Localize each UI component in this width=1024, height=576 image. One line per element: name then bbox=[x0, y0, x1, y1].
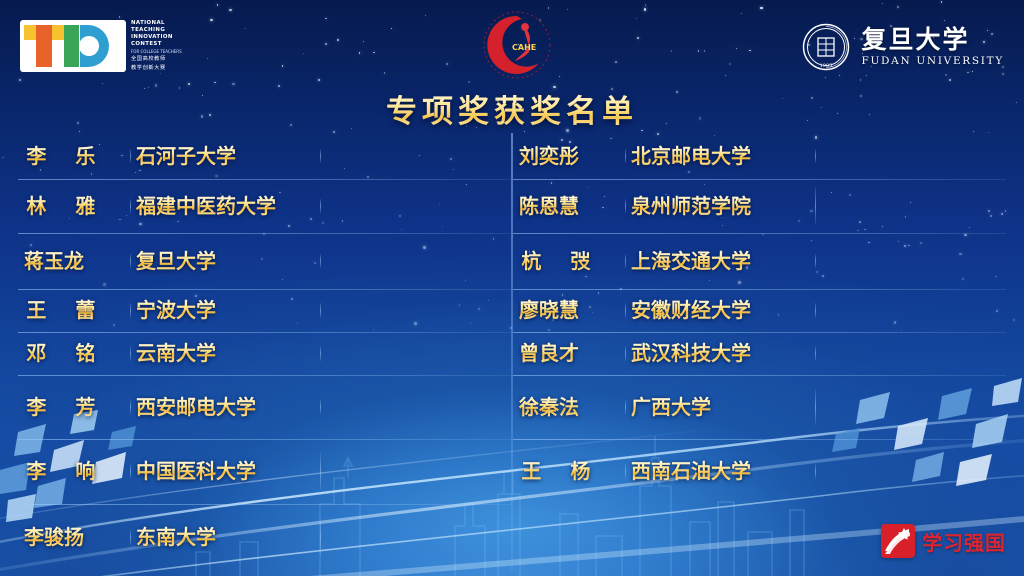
cell-award: 教学活动创新奖教学学术创新奖 bbox=[815, 183, 1001, 228]
winner-school: 云南大学 bbox=[136, 341, 216, 365]
winner-school: 石河子大学 bbox=[136, 144, 236, 168]
table-row: 王 蕾宁波大学教学设计创新奖 bbox=[18, 289, 511, 333]
award-label: 教学设计创新奖 bbox=[326, 250, 500, 272]
winner-awards: 教学设计创新奖 bbox=[821, 250, 995, 272]
fudan-name-cn: 复旦大学 bbox=[862, 27, 970, 53]
winner-name: 王 杨 bbox=[519, 459, 601, 483]
winner-name: 李 乐 bbox=[24, 144, 106, 168]
award-table-right-column: 刘奕彤北京邮电大学教学活动创新奖陈恩慧泉州师范学院教学活动创新奖教学学术创新奖杭… bbox=[513, 133, 1006, 571]
cell-name: 邓 铭 bbox=[18, 342, 130, 364]
winner-school: 北京邮电大学 bbox=[631, 144, 751, 168]
winner-awards: 教学活动创新奖教学学术创新奖 bbox=[821, 385, 995, 430]
cell-award: 教学设计创新奖 bbox=[815, 299, 1001, 321]
winner-awards: 教学设计创新奖 bbox=[821, 460, 995, 482]
award-label: 教学设计创新奖 bbox=[821, 299, 995, 321]
winner-name: 李骏扬 bbox=[24, 525, 84, 549]
winner-awards: 教学设计创新奖 bbox=[821, 299, 995, 321]
winner-name: 曾良才 bbox=[519, 341, 579, 365]
slide-stage: NATIONAL TEACHING INNOVATION CONTEST FOR… bbox=[0, 0, 1024, 576]
winner-school: 东南大学 bbox=[136, 525, 216, 549]
cell-school: 云南大学 bbox=[130, 342, 320, 364]
cell-name: 李 响 bbox=[18, 460, 130, 482]
winner-awards: 教学学术创新奖 bbox=[821, 342, 995, 364]
xuexi-qiangguo-mark-icon bbox=[881, 524, 915, 558]
tic-logo-mark bbox=[20, 20, 126, 72]
fudan-university-logo: 1905 复旦大学 FUDAN UNIVERSITY bbox=[802, 20, 1004, 74]
table-row: 刘奕彤北京邮电大学教学活动创新奖 bbox=[513, 133, 1006, 179]
award-label: 教学学术创新奖 bbox=[326, 396, 500, 418]
tic-line-1: NATIONAL bbox=[131, 20, 182, 27]
cell-school: 中国医科大学 bbox=[130, 460, 320, 482]
winner-awards: 教学活动创新奖教学学术创新奖 bbox=[326, 449, 500, 494]
award-label: 教学设计创新奖 bbox=[326, 299, 500, 321]
cell-award: 教学设计创新奖 bbox=[815, 250, 1001, 272]
cell-school: 武汉科技大学 bbox=[625, 342, 815, 364]
table-row: 曾良才武汉科技大学教学学术创新奖 bbox=[513, 332, 1006, 375]
fudan-name-en: FUDAN UNIVERSITY bbox=[862, 55, 1004, 67]
winner-name: 杭 弢 bbox=[519, 249, 601, 273]
award-label: 教学设计创新奖 bbox=[326, 537, 500, 559]
xuexi-qiangguo-label: 学习强国 bbox=[922, 527, 1006, 556]
award-table-left-column: 李 乐石河子大学教学活动创新奖林 雅福建中医药大学教学活动创新奖蒋玉龙复旦大学教… bbox=[18, 133, 511, 571]
tic-cn-line-1: 全国高校教师 bbox=[131, 56, 182, 63]
award-label: 教学学术创新奖 bbox=[326, 342, 500, 364]
award-label: 教学活动创新奖 bbox=[821, 145, 995, 167]
tic-tagline: FOR COLLEGE TEACHERS bbox=[131, 49, 182, 54]
table-row: 李骏扬东南大学教学学术创新奖教学设计创新奖 bbox=[18, 504, 511, 571]
winner-name: 王 蕾 bbox=[24, 298, 106, 322]
cell-name: 徐秦法 bbox=[513, 396, 625, 418]
winner-school: 复旦大学 bbox=[136, 249, 216, 273]
cell-award: 教学活动创新奖 bbox=[320, 145, 506, 167]
cell-name: 王 杨 bbox=[513, 460, 625, 482]
table-row: 李 芳西安邮电大学教学学术创新奖 bbox=[18, 375, 511, 439]
cell-name: 蒋玉龙 bbox=[18, 250, 130, 272]
award-list-table: 李 乐石河子大学教学活动创新奖林 雅福建中医药大学教学活动创新奖蒋玉龙复旦大学教… bbox=[18, 133, 1006, 571]
table-row: 廖晓慧安徽财经大学教学设计创新奖 bbox=[513, 289, 1006, 333]
winner-school: 福建中医药大学 bbox=[136, 194, 276, 218]
winner-name: 李 响 bbox=[24, 459, 106, 483]
table-row: 邓 铭云南大学教学学术创新奖 bbox=[18, 332, 511, 375]
cell-school: 泉州师范学院 bbox=[625, 195, 815, 217]
winner-name: 廖晓慧 bbox=[519, 298, 579, 322]
table-row: 蒋玉龙复旦大学教学设计创新奖 bbox=[18, 233, 511, 289]
award-label: 教学学术创新奖 bbox=[821, 342, 995, 364]
award-label: 教学活动创新奖 bbox=[326, 195, 500, 217]
cell-award: 教学活动创新奖 bbox=[320, 195, 506, 217]
table-row: 陈恩慧泉州师范学院教学活动创新奖教学学术创新奖 bbox=[513, 179, 1006, 234]
cell-award: 教学学术创新奖 bbox=[320, 396, 506, 418]
award-label: 教学活动创新奖 bbox=[326, 449, 500, 471]
cell-school: 安徽财经大学 bbox=[625, 299, 815, 321]
tic-logo: NATIONAL TEACHING INNOVATION CONTEST FOR… bbox=[20, 20, 190, 78]
award-label: 教学学术创新奖 bbox=[821, 407, 995, 429]
svg-text:1905: 1905 bbox=[819, 63, 832, 69]
cell-school: 西安邮电大学 bbox=[130, 396, 320, 418]
cell-name: 王 蕾 bbox=[18, 299, 130, 321]
winner-awards: 教学设计创新奖 bbox=[326, 250, 500, 272]
cell-name: 廖晓慧 bbox=[513, 299, 625, 321]
winner-awards: 教学活动创新奖 bbox=[821, 145, 995, 167]
cell-name: 李骏扬 bbox=[18, 526, 130, 548]
cell-name: 李 芳 bbox=[18, 396, 130, 418]
cell-school: 宁波大学 bbox=[130, 299, 320, 321]
award-label: 教学设计创新奖 bbox=[821, 250, 995, 272]
tic-line-2: TEACHING bbox=[131, 27, 182, 34]
svg-text:CAHE: CAHE bbox=[512, 43, 536, 52]
winner-school: 安徽财经大学 bbox=[631, 298, 751, 322]
cahe-emblem: CAHE bbox=[482, 10, 552, 80]
winner-school: 中国医科大学 bbox=[136, 459, 256, 483]
winner-school: 武汉科技大学 bbox=[631, 341, 751, 365]
award-label: 教学学术创新奖 bbox=[821, 206, 995, 228]
cell-award: 教学活动创新奖教学学术创新奖 bbox=[815, 385, 1001, 430]
cell-name: 刘奕彤 bbox=[513, 145, 625, 167]
winner-name: 徐秦法 bbox=[519, 395, 579, 419]
table-row: 王 杨西南石油大学教学设计创新奖 bbox=[513, 439, 1006, 503]
award-label: 教学活动创新奖 bbox=[821, 183, 995, 205]
winner-name: 邓 铭 bbox=[24, 341, 106, 365]
winner-name: 蒋玉龙 bbox=[24, 249, 84, 273]
winner-awards: 教学活动创新奖 bbox=[326, 145, 500, 167]
cell-name: 李 乐 bbox=[18, 145, 130, 167]
page-title: 专项奖获奖名单 bbox=[0, 86, 1024, 131]
cell-school: 上海交通大学 bbox=[625, 250, 815, 272]
award-label: 教学活动创新奖 bbox=[821, 385, 995, 407]
winner-name: 刘奕彤 bbox=[519, 144, 579, 168]
award-label: 教学学术创新奖 bbox=[326, 471, 500, 493]
cell-school: 福建中医药大学 bbox=[130, 195, 320, 217]
table-row: 徐秦法广西大学教学活动创新奖教学学术创新奖 bbox=[513, 375, 1006, 439]
winner-awards: 教学设计创新奖 bbox=[326, 299, 500, 321]
cell-name: 曾良才 bbox=[513, 342, 625, 364]
fudan-seal-icon: 1905 bbox=[802, 23, 850, 71]
winner-school: 宁波大学 bbox=[136, 298, 216, 322]
winner-awards: 教学学术创新奖 bbox=[326, 396, 500, 418]
cell-award: 教学活动创新奖教学学术创新奖 bbox=[320, 449, 506, 494]
winner-school: 泉州师范学院 bbox=[631, 194, 751, 218]
xuexi-qiangguo-logo: 学习强国 bbox=[881, 522, 1006, 560]
cell-award: 教学学术创新奖 bbox=[320, 342, 506, 364]
award-label: 教学设计创新奖 bbox=[821, 460, 995, 482]
winner-school: 广西大学 bbox=[631, 395, 711, 419]
winner-name: 林 雅 bbox=[24, 194, 106, 218]
cell-award: 教学设计创新奖 bbox=[320, 250, 506, 272]
tic-cn-line-2: 教学创新大赛 bbox=[131, 65, 182, 72]
cell-name: 杭 弢 bbox=[513, 250, 625, 272]
cell-school: 东南大学 bbox=[130, 526, 320, 548]
tic-line-4: CONTEST bbox=[131, 41, 182, 48]
cell-award: 教学学术创新奖 bbox=[815, 342, 1001, 364]
award-label: 教学学术创新奖 bbox=[326, 515, 500, 537]
cell-award: 教学设计创新奖 bbox=[815, 460, 1001, 482]
winner-school: 上海交通大学 bbox=[631, 249, 751, 273]
cell-name: 陈恩慧 bbox=[513, 195, 625, 217]
cell-award: 教学设计创新奖 bbox=[320, 299, 506, 321]
table-row: 李 乐石河子大学教学活动创新奖 bbox=[18, 133, 511, 179]
cell-school: 石河子大学 bbox=[130, 145, 320, 167]
table-row: 林 雅福建中医药大学教学活动创新奖 bbox=[18, 179, 511, 234]
table-row: 杭 弢上海交通大学教学设计创新奖 bbox=[513, 233, 1006, 289]
tic-line-3: INNOVATION bbox=[131, 34, 182, 41]
winner-school: 西南石油大学 bbox=[631, 459, 751, 483]
cell-award: 教学活动创新奖 bbox=[815, 145, 1001, 167]
cell-school: 北京邮电大学 bbox=[625, 145, 815, 167]
cell-school: 复旦大学 bbox=[130, 250, 320, 272]
winner-awards: 教学学术创新奖教学设计创新奖 bbox=[326, 515, 500, 560]
winner-name: 陈恩慧 bbox=[519, 194, 579, 218]
cell-school: 西南石油大学 bbox=[625, 460, 815, 482]
winner-school: 西安邮电大学 bbox=[136, 395, 256, 419]
cell-name: 林 雅 bbox=[18, 195, 130, 217]
winner-awards: 教学活动创新奖教学学术创新奖 bbox=[821, 183, 995, 228]
winner-awards: 教学学术创新奖 bbox=[326, 342, 500, 364]
winner-name: 李 芳 bbox=[24, 395, 106, 419]
table-row: 李 响中国医科大学教学活动创新奖教学学术创新奖 bbox=[18, 439, 511, 503]
winner-awards: 教学活动创新奖 bbox=[326, 195, 500, 217]
cell-award: 教学学术创新奖教学设计创新奖 bbox=[320, 515, 506, 560]
cell-school: 广西大学 bbox=[625, 396, 815, 418]
award-label: 教学活动创新奖 bbox=[326, 145, 500, 167]
